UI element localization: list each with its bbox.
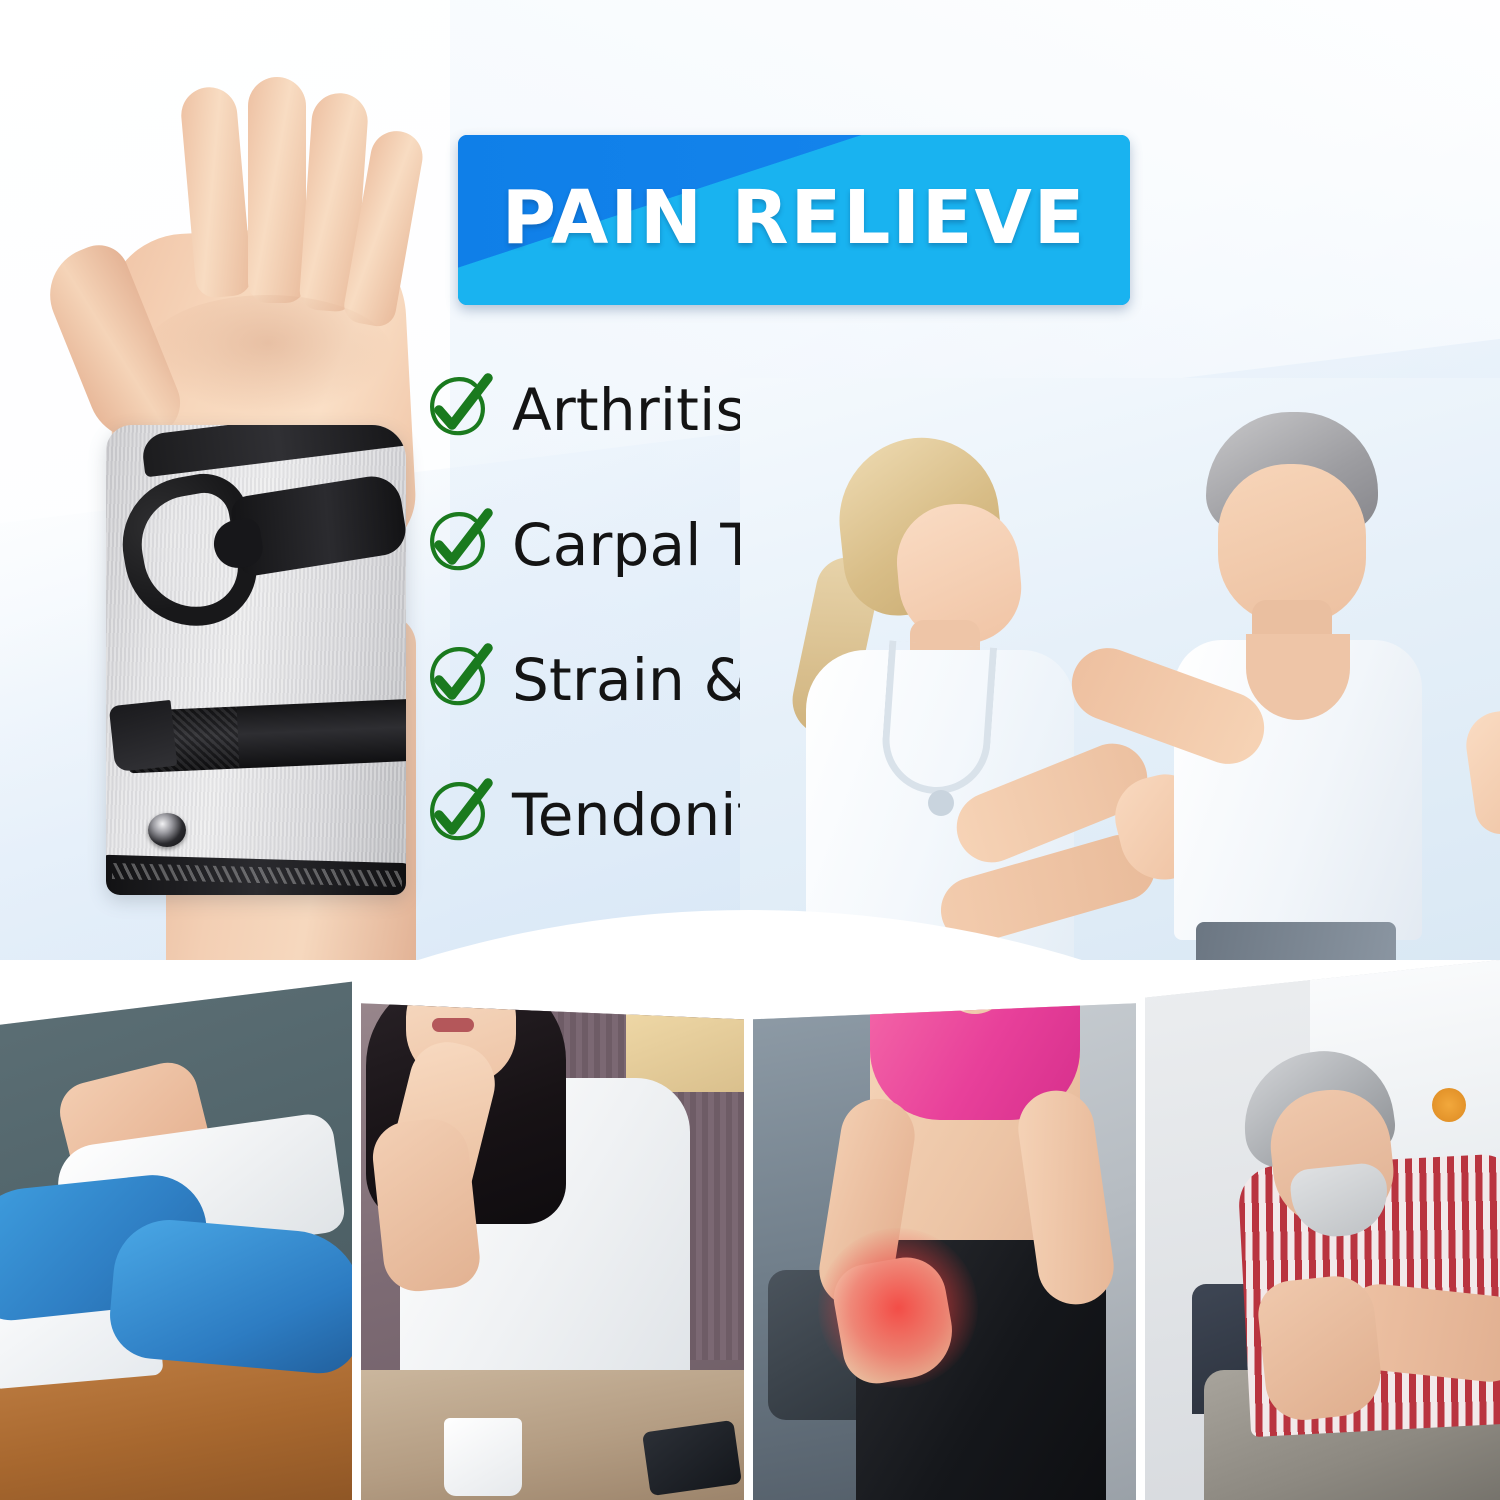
office-window <box>626 972 744 1092</box>
brace-strap-tip <box>109 700 178 772</box>
panel-divider-2 <box>744 960 753 1500</box>
gym-woman-image <box>752 960 1136 1500</box>
elderly-man-wrist-pain-panel <box>1144 960 1500 1500</box>
middle-finger <box>248 77 306 303</box>
doctor-figure <box>788 438 1118 978</box>
womans-lips <box>432 1018 474 1032</box>
bandaged-wrist-panel <box>0 960 352 1500</box>
flower-decor <box>1432 1088 1466 1122</box>
pain-relieve-banner: PAIN RELIEVE <box>458 135 1130 305</box>
blue-glove-right <box>106 1215 352 1376</box>
stethoscope-chestpiece <box>928 790 954 816</box>
check-circle-icon <box>418 777 494 853</box>
palm-shading <box>143 295 393 415</box>
mans-painful-hand <box>1255 1272 1385 1423</box>
panel-divider-3 <box>1136 960 1145 1500</box>
product-infographic: PAIN RELIEVE Arthritis Pain <box>0 0 1500 1500</box>
patient-hand <box>1462 705 1500 838</box>
coffee-mug <box>444 1418 522 1496</box>
elderly-man-image <box>1144 960 1500 1500</box>
check-circle-icon <box>418 642 494 718</box>
office-worker-wrist-pain-panel <box>360 960 744 1500</box>
top-section: PAIN RELIEVE Arthritis Pain <box>0 0 1500 1010</box>
patient-figure <box>1140 402 1500 978</box>
bottom-photo-strip <box>0 960 1500 1500</box>
brace-metal-eyelet <box>148 813 186 847</box>
wrist-brace <box>106 425 406 895</box>
banner-title: PAIN RELIEVE <box>458 135 1130 305</box>
gym-wrist-pain-panel <box>752 960 1136 1500</box>
bandaged-wrist-image <box>0 960 352 1500</box>
check-circle-icon <box>418 507 494 583</box>
womans-lower-hand <box>369 1115 482 1294</box>
check-circle-icon <box>418 372 494 448</box>
pain-glow-indicator <box>818 1228 978 1388</box>
panel-divider-1 <box>352 960 361 1500</box>
wrist-brace-product-photo <box>48 55 423 955</box>
doctor-examining-patient-wrist-photo <box>740 378 1500 978</box>
office-worker-image <box>360 960 744 1500</box>
smartphone <box>642 1420 742 1496</box>
